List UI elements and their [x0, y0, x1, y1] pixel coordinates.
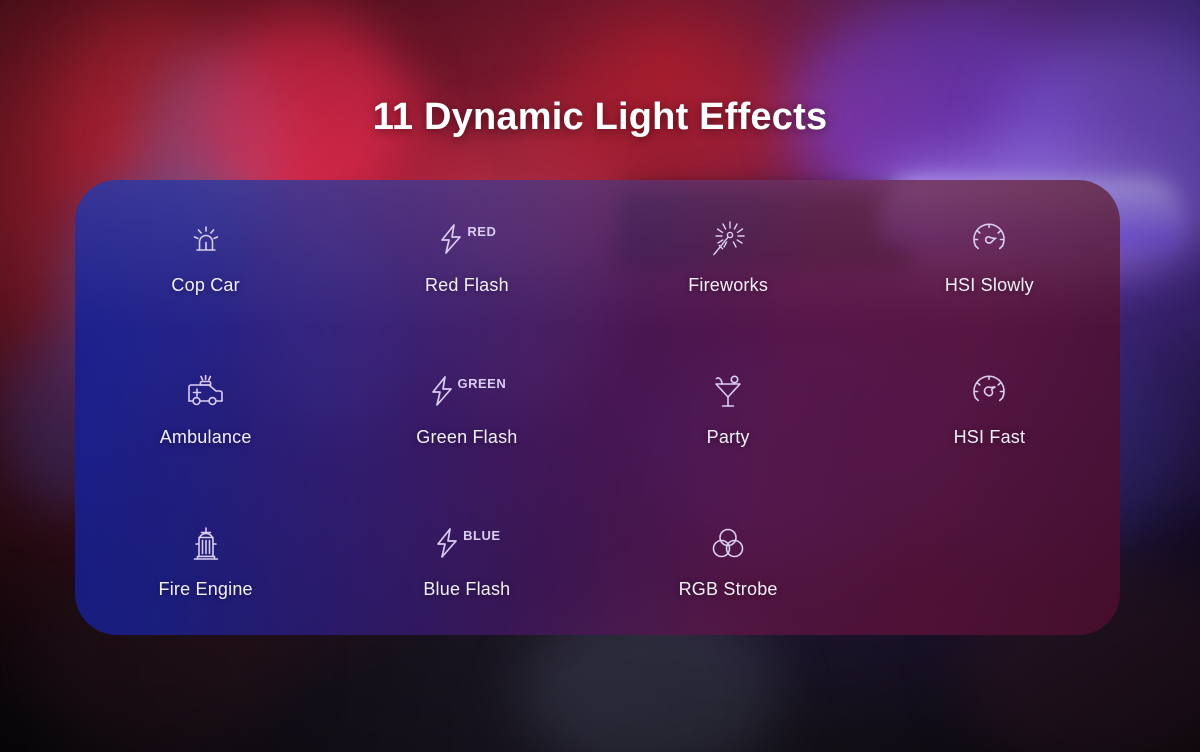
rgb-venn-circles-icon — [708, 519, 748, 567]
lightning-bolt-icon: GREEN — [428, 367, 507, 415]
lightning-bolt-icon: BLUE — [433, 519, 500, 567]
flash-color-word: GREEN — [458, 376, 507, 391]
screenshot-stage: 11 Dynamic Light Effects Cop Car — [0, 0, 1200, 752]
effect-item-blue-flash[interactable]: BLUE Blue Flash — [336, 483, 597, 635]
effect-item-green-flash[interactable]: GREEN Green Flash — [336, 332, 597, 484]
effect-label: Fireworks — [688, 275, 768, 296]
effect-item-fireworks[interactable]: Fireworks — [598, 180, 859, 332]
effect-item-red-flash[interactable]: RED Red Flash — [336, 180, 597, 332]
flash-color-word: RED — [467, 224, 496, 239]
ambulance-icon — [184, 367, 228, 415]
effect-label: RGB Strobe — [679, 579, 778, 600]
effect-label: Red Flash — [425, 275, 509, 296]
effect-label: Blue Flash — [423, 579, 510, 600]
effects-grid: Cop Car RED Red Flash — [75, 180, 1120, 635]
police-beacon-icon — [186, 215, 226, 263]
effect-item-cop-car[interactable]: Cop Car — [75, 180, 336, 332]
effect-item-hsi-fast[interactable]: HSI Fast — [859, 332, 1120, 484]
effect-item-hsi-slowly[interactable]: HSI Slowly — [859, 180, 1120, 332]
cocktail-glass-icon — [709, 367, 747, 415]
effect-label: Ambulance — [160, 427, 252, 448]
effect-label: Cop Car — [171, 275, 239, 296]
effect-label: HSI Fast — [954, 427, 1026, 448]
effect-item-fire-engine[interactable]: Fire Engine — [75, 483, 336, 635]
effect-label: Fire Engine — [159, 579, 253, 600]
gauge-fast-icon — [970, 367, 1008, 415]
fireworks-icon — [707, 215, 749, 263]
gauge-slow-icon — [970, 215, 1008, 263]
effect-label: Party — [707, 427, 750, 448]
flash-color-word: BLUE — [463, 528, 500, 543]
effect-label: HSI Slowly — [945, 275, 1034, 296]
effect-item-rgb-strobe[interactable]: RGB Strobe — [598, 483, 859, 635]
fire-hydrant-icon — [188, 519, 224, 567]
effect-item-ambulance[interactable]: Ambulance — [75, 332, 336, 484]
effect-label: Green Flash — [416, 427, 517, 448]
lightning-bolt-icon: RED — [437, 215, 496, 263]
effect-item-party[interactable]: Party — [598, 332, 859, 484]
page-title: 11 Dynamic Light Effects — [0, 96, 1200, 139]
